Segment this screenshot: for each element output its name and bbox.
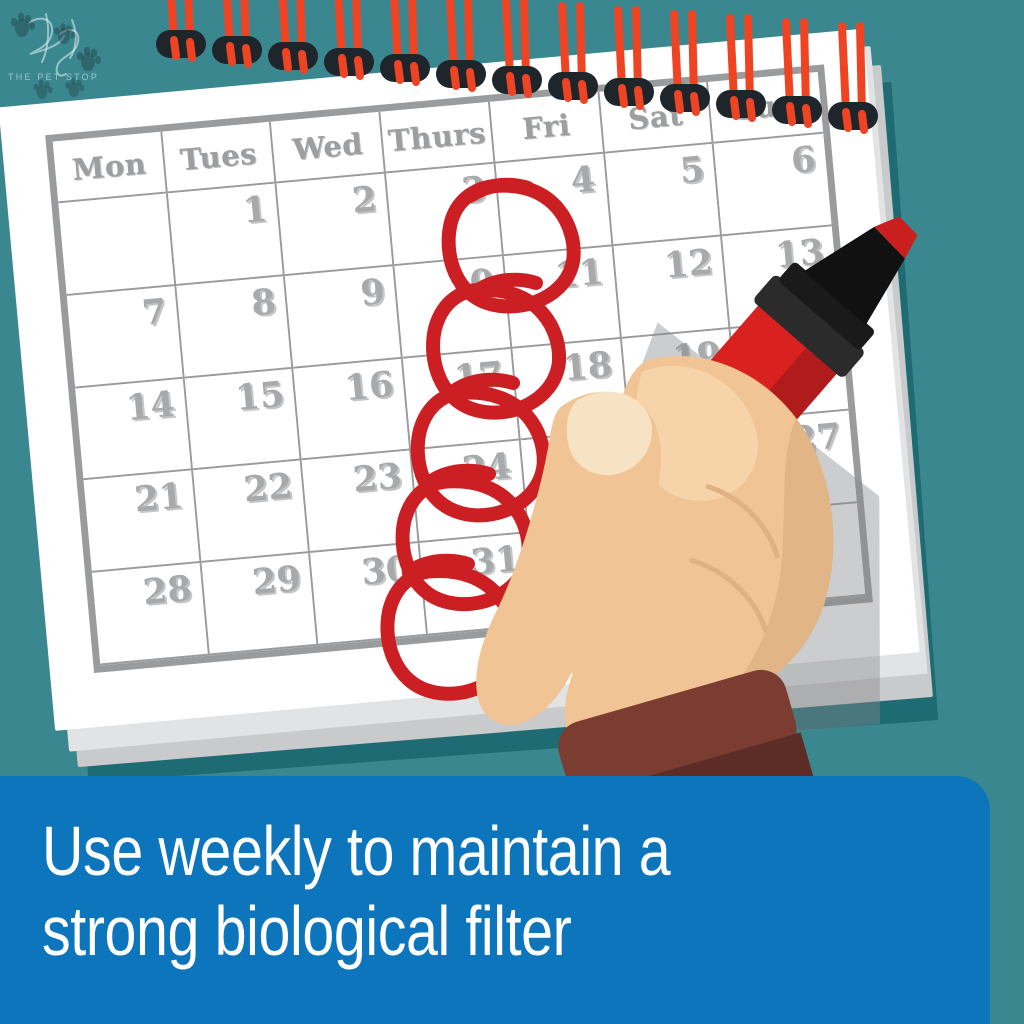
caption-banner: Use weekly to maintain a strong biologic… (0, 776, 990, 1024)
image-canvas: Mon Tues Wed Thurs Fri Sat Sun 1 2 3 4 5… (0, 0, 1024, 1024)
caption-text: Use weekly to maintain a strong biologic… (42, 812, 780, 972)
